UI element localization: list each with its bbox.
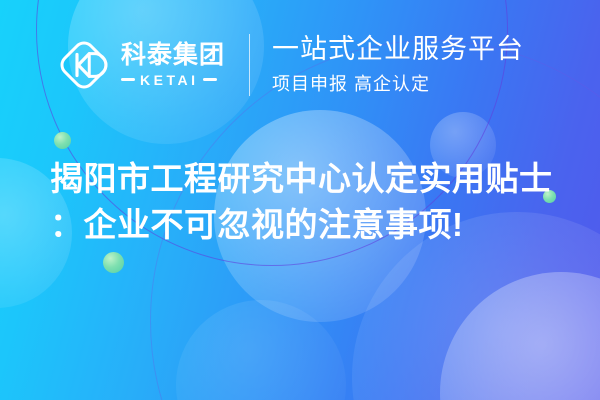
banner-header: 科泰集团 KETAI 一站式企业服务平台 项目申报 高企认定 <box>0 0 600 130</box>
headline-line-2: ：企业不可忽视的注意事项! <box>50 202 570 248</box>
promo-banner: 科泰集团 KETAI 一站式企业服务平台 项目申报 高企认定 揭阳市工程研究中心… <box>0 0 600 400</box>
header-divider <box>249 34 250 96</box>
wordmark-rule-right <box>203 78 217 81</box>
green-accent-dot <box>54 132 71 149</box>
headline-block: 揭阳市工程研究中心认定实用贴士 ：企业不可忽视的注意事项! <box>50 156 570 248</box>
green-accent-dot <box>103 252 124 273</box>
brand-logo-wordmark: 科泰集团 KETAI <box>121 42 225 87</box>
slogan-main-text: 一站式企业服务平台 <box>272 34 524 65</box>
background-circle-bottom-right <box>440 272 600 400</box>
ketai-diamond-k-logo-icon <box>56 37 112 93</box>
wordmark-rule-left <box>121 78 135 81</box>
headline-line-1: 揭阳市工程研究中心认定实用贴士 <box>50 156 570 202</box>
brand-name-cn: 科泰集团 <box>121 42 225 68</box>
header-slogan: 一站式企业服务平台 项目申报 高企认定 <box>272 34 524 96</box>
brand-name-en-row: KETAI <box>121 72 225 88</box>
slogan-sub-text: 项目申报 高企认定 <box>272 70 524 96</box>
brand-name-en: KETAI <box>140 72 198 88</box>
background-circle-lower-left <box>176 300 346 400</box>
brand-logo[interactable]: 科泰集团 KETAI <box>56 37 225 93</box>
